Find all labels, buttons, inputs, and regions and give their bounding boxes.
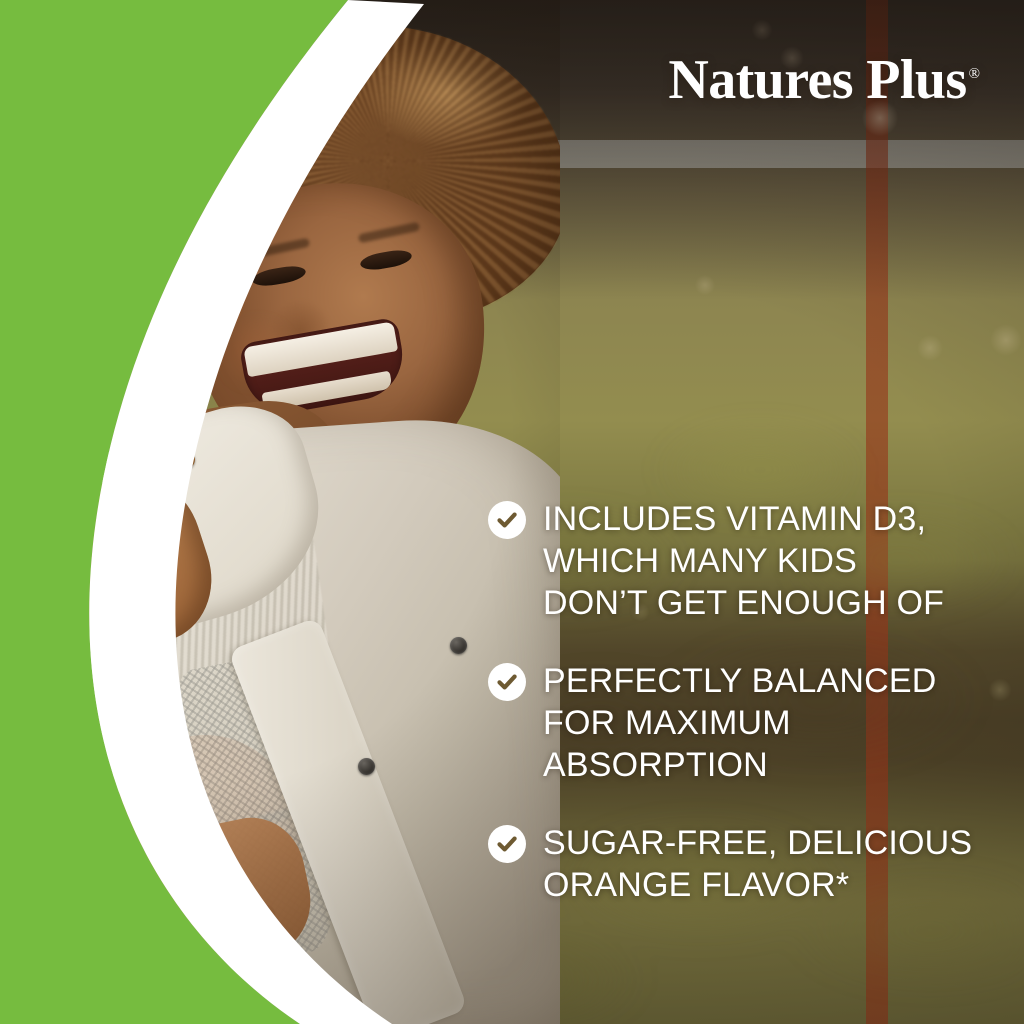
benefit-item: SUGAR-FREE, DELICIOUS ORANGE FLAVOR* xyxy=(488,822,1000,906)
benefits-list: INCLUDES VITAMIN D3, WHICH MANY KIDS DON… xyxy=(488,498,1000,906)
check-circle-icon xyxy=(488,825,526,863)
child-photo-subject xyxy=(0,0,560,1024)
benefit-text: SUGAR-FREE, DELICIOUS ORANGE FLAVOR* xyxy=(543,822,972,906)
benefit-item: PERFECTLY BALANCED FOR MAXIMUM ABSORPTIO… xyxy=(488,660,1000,786)
brand-logo: Natures Plus® xyxy=(668,52,980,108)
check-circle-icon xyxy=(488,501,526,539)
benefit-item: INCLUDES VITAMIN D3, WHICH MANY KIDS DON… xyxy=(488,498,1000,624)
benefit-text: PERFECTLY BALANCED FOR MAXIMUM ABSORPTIO… xyxy=(543,660,936,786)
registered-trademark-icon: ® xyxy=(969,66,980,82)
jacket-snap-button xyxy=(358,758,375,775)
jacket-snap-button xyxy=(450,637,467,654)
sweater-button xyxy=(176,450,195,469)
promo-banner: Natures Plus® INCLUDES VITAMIN D3, WHICH… xyxy=(0,0,1024,1024)
brand-logo-text: Natures Plus xyxy=(668,49,966,111)
benefit-text: INCLUDES VITAMIN D3, WHICH MANY KIDS DON… xyxy=(543,498,944,624)
check-circle-icon xyxy=(488,663,526,701)
